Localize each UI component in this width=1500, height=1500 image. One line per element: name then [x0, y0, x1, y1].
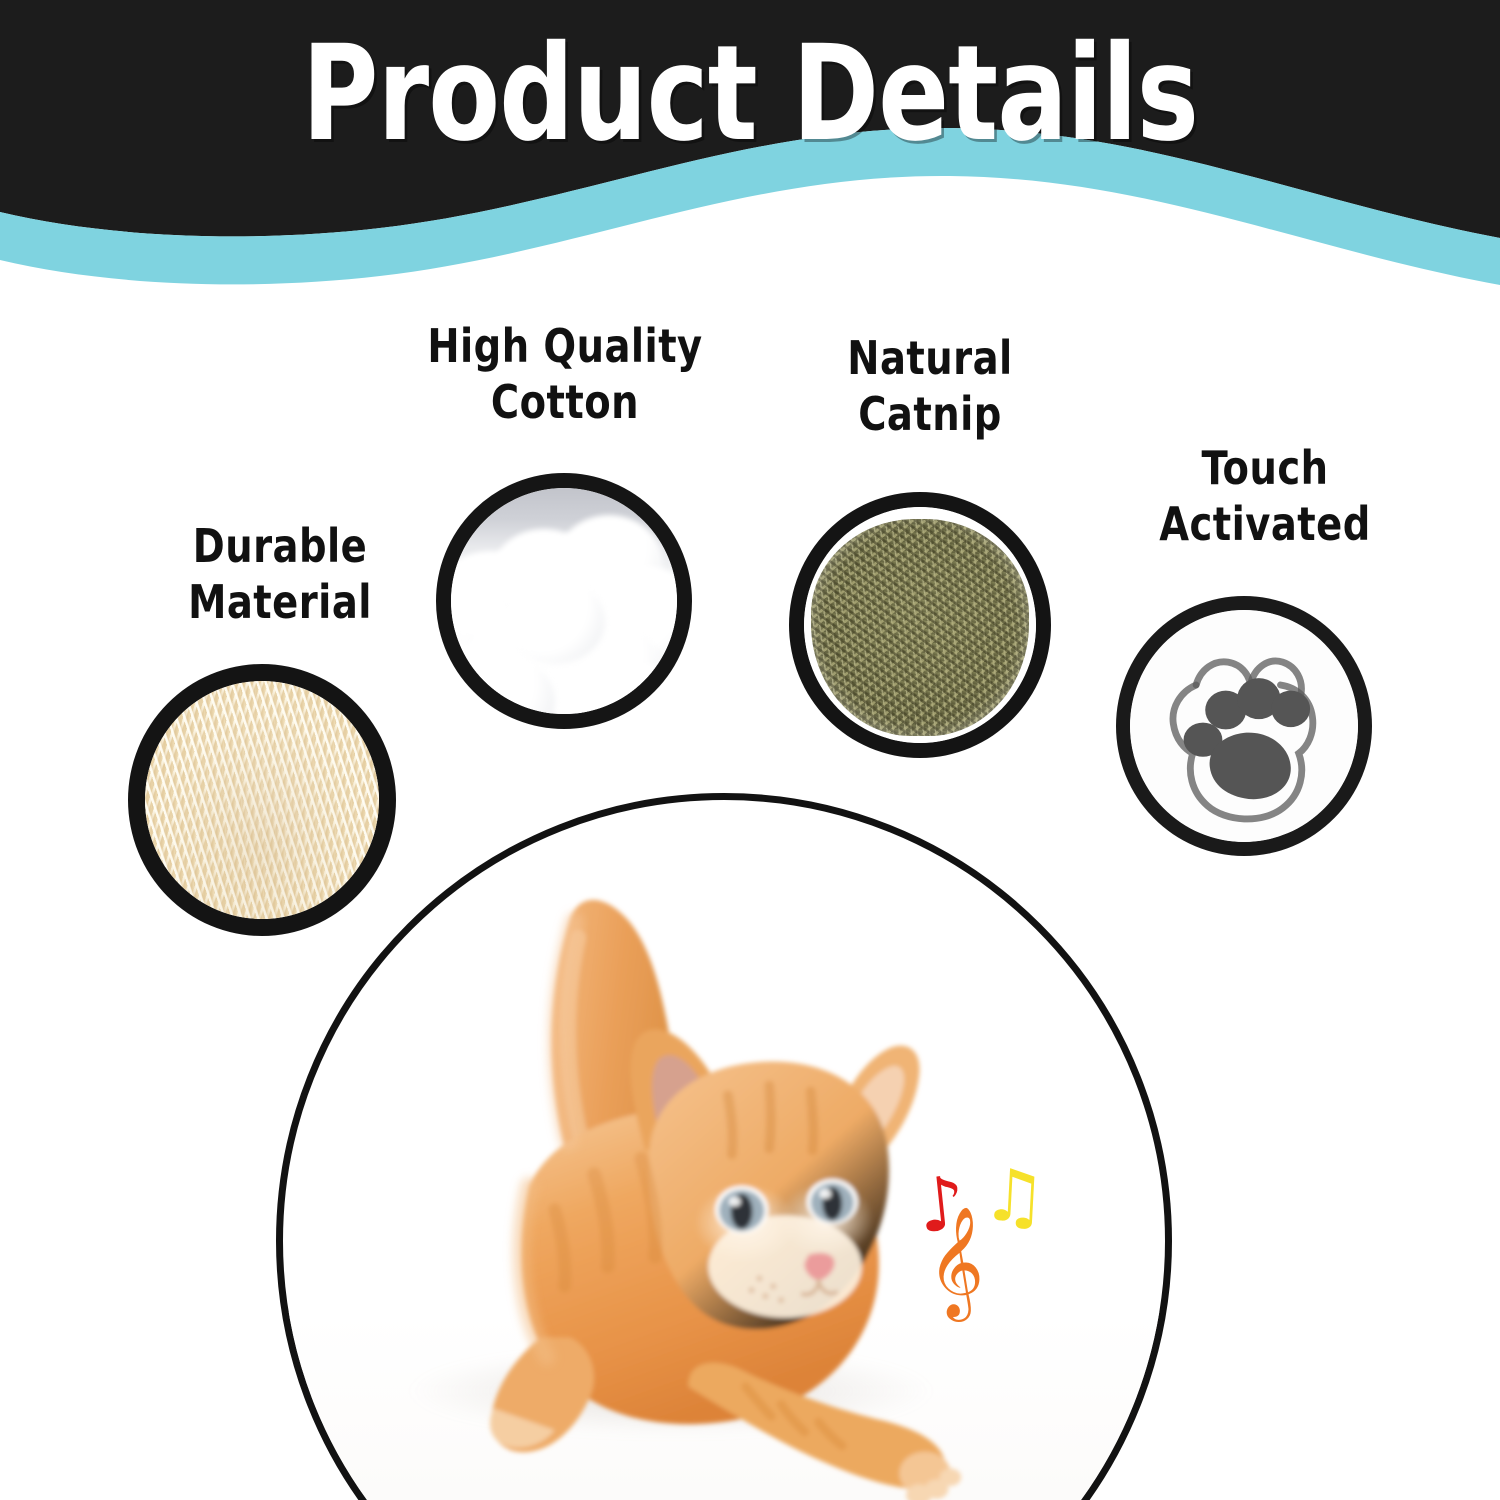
- feature-label-line2: Catnip: [809, 386, 1051, 442]
- hero-photo-circle: [276, 793, 1172, 1500]
- feature-label-line1: Natural: [809, 330, 1051, 386]
- cotton-fill-swatch-icon: [436, 473, 692, 729]
- catnip-edge-highlight: [804, 507, 1036, 743]
- kitten-paw: [899, 1452, 961, 1500]
- feature-label-line2: Cotton: [412, 374, 719, 430]
- feature-label-durable-material: Durable Material: [141, 518, 420, 630]
- feature-label-high-quality-cotton: High Quality Cotton: [412, 318, 719, 430]
- header-banner: Product Details: [0, 0, 1500, 285]
- feature-label-line1: Touch: [1144, 440, 1386, 496]
- kitten-illustration: [283, 800, 1165, 1500]
- cotton-swatch-inner: [451, 488, 677, 714]
- product-details-infographic: Product Details Durable Material High Qu…: [0, 0, 1500, 1500]
- catnip-herb-swatch-icon: [789, 492, 1051, 758]
- kitten-eye-left: [715, 1186, 768, 1233]
- feature-label-line1: High Quality: [412, 318, 719, 374]
- catnip-swatch-inner: [804, 507, 1036, 743]
- feature-label-line2: Material: [141, 574, 420, 630]
- feature-label-line2: Activated: [1144, 496, 1386, 552]
- treble-clef-icon: 𝄞: [926, 1212, 986, 1310]
- cotton-puff: [505, 578, 604, 664]
- page-title: Product Details: [90, 28, 1410, 160]
- feature-label-natural-catnip: Natural Catnip: [809, 330, 1051, 442]
- feature-label-line1: Durable: [141, 518, 420, 574]
- feature-label-touch-activated: Touch Activated: [1144, 440, 1386, 552]
- hero-scene: [283, 800, 1165, 1500]
- beamed-notes-icon: ♫: [980, 1158, 1048, 1233]
- kitten-eye-right: [807, 1179, 858, 1224]
